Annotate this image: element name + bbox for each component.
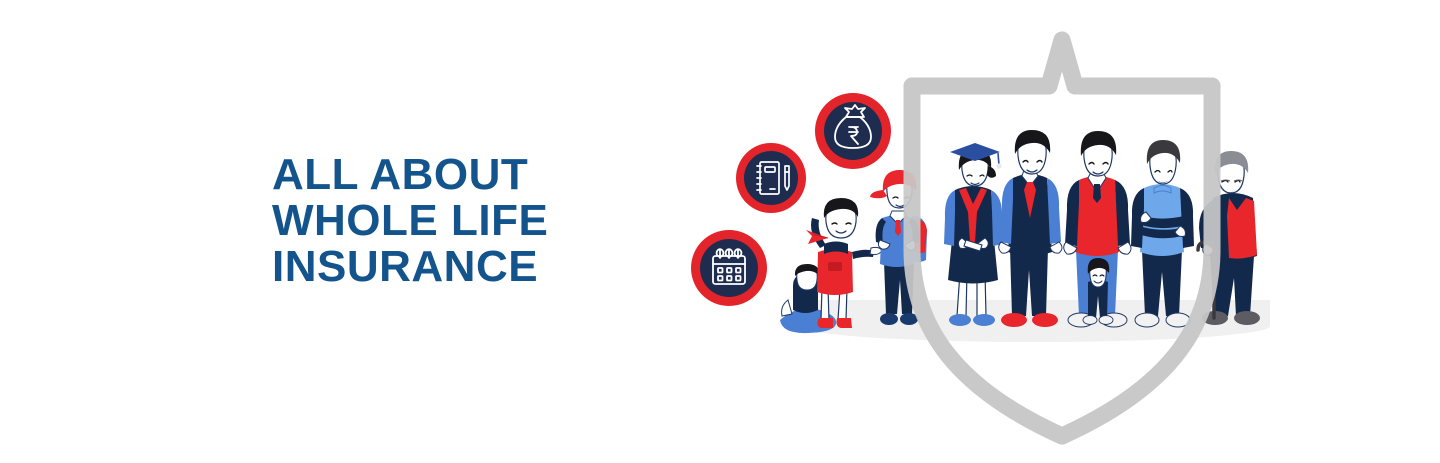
hero-illustration bbox=[660, 0, 1280, 463]
money-bag-badge[interactable] bbox=[815, 93, 891, 169]
headline-line-3: INSURANCE bbox=[272, 244, 692, 290]
figure-businessman bbox=[999, 130, 1062, 327]
insurance-banner: ALL ABOUT WHOLE LIFE INSURANCE bbox=[0, 0, 1440, 463]
notebook-badge[interactable] bbox=[736, 143, 806, 213]
headline-line-1: ALL ABOUT bbox=[272, 152, 692, 198]
figure-middle-aged-man bbox=[1131, 140, 1194, 327]
calendar-badge[interactable] bbox=[691, 230, 767, 306]
page-title: ALL ABOUT WHOLE LIFE INSURANCE bbox=[272, 152, 692, 290]
headline-line-2: WHOLE LIFE bbox=[272, 198, 692, 244]
figure-father-with-child bbox=[1064, 131, 1131, 327]
figure-female-graduate bbox=[944, 143, 1003, 326]
